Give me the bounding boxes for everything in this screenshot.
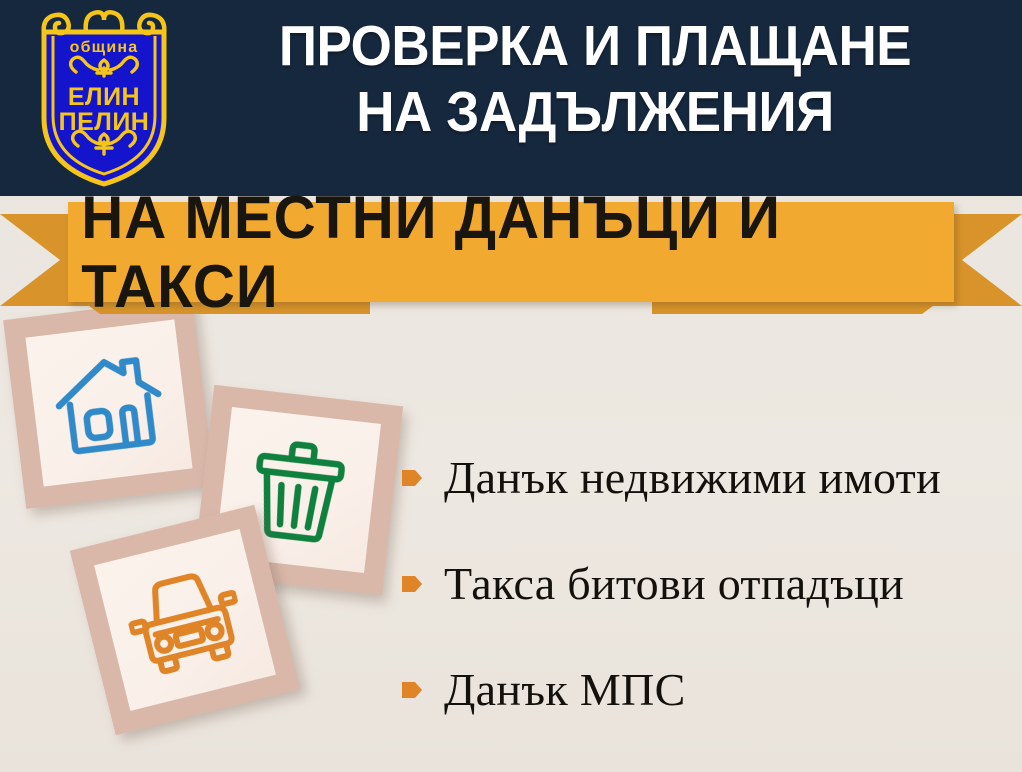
- stamp-card-property: [3, 297, 215, 509]
- crest-shield-icon: община ЕЛИН ПЕЛИН: [22, 6, 186, 190]
- crest-name-line-1: ЕЛИН: [68, 83, 140, 111]
- list-item[interactable]: Данък МПС: [400, 637, 1010, 743]
- stamp-cards-group: [0, 300, 420, 772]
- crest-name-line-2: ПЕЛИН: [59, 108, 150, 136]
- ribbon-banner: НА МЕСТНИ ДАНЪЦИ И ТАКСИ: [0, 196, 1022, 318]
- poster-canvas: ПРОВЕРКА И ПЛАЩАНЕ НА ЗАДЪЛЖЕНИЯ: [0, 0, 1022, 772]
- municipality-crest-logo: община ЕЛИН ПЕЛИН: [22, 6, 186, 190]
- page-title: ПРОВЕРКА И ПЛАЩАНЕ НА ЗАДЪЛЖЕНИЯ: [209, 14, 981, 145]
- list-item-label: Данък недвижими имоти: [444, 454, 941, 502]
- arrow-bullet-icon: [400, 678, 424, 702]
- list-item-label: Такса битови отпадъци: [444, 560, 904, 608]
- list-item[interactable]: Данък недвижими имоти: [400, 425, 1010, 531]
- page-title-line-2: НА ЗАДЪЛЖЕНИЯ: [209, 80, 981, 146]
- list-item-label: Данък МПС: [444, 666, 686, 714]
- ribbon-main-panel: НА МЕСТНИ ДАНЪЦИ И ТАКСИ: [68, 202, 954, 302]
- arrow-bullet-icon: [400, 572, 424, 596]
- house-icon: [49, 347, 168, 459]
- ribbon-label: НА МЕСТНИ ДАНЪЦИ И ТАКСИ: [81, 202, 940, 302]
- car-icon: [119, 559, 251, 681]
- page-title-line-1: ПРОВЕРКА И ПЛАЩАНЕ: [279, 14, 911, 78]
- arrow-bullet-icon: [400, 466, 424, 490]
- tax-types-list: Данък недвижими имоти Такса битови отпад…: [400, 425, 1010, 743]
- crest-top-label: община: [70, 39, 139, 56]
- list-item[interactable]: Такса битови отпадъци: [400, 531, 1010, 637]
- stamp-inner-face: [25, 319, 192, 486]
